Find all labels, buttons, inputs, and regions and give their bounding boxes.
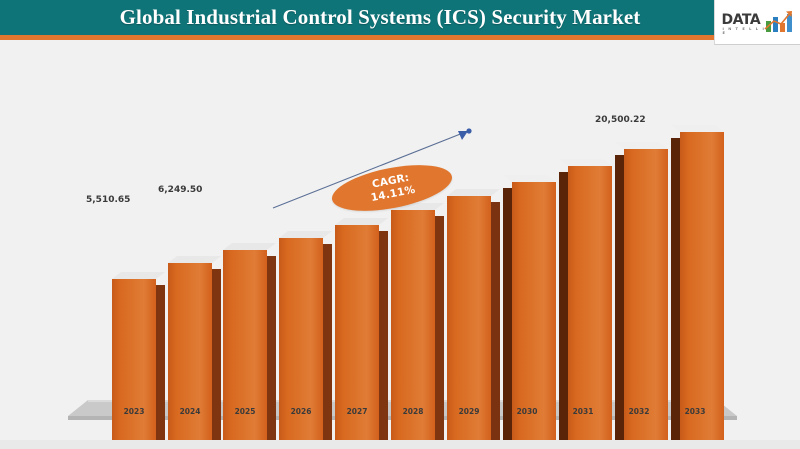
logo-wordmark: DATA (722, 12, 761, 28)
header-bar: Global Industrial Control Systems (ICS) … (0, 0, 800, 40)
page-title: Global Industrial Control Systems (ICS) … (120, 5, 641, 30)
bottom-strip (0, 440, 800, 449)
logo-inner: DATA I N T E L L I G E N C E (720, 7, 796, 37)
cagr-trend-arrow-icon (0, 45, 800, 449)
chart-plot-area: 5,510.65 6,249.50 20,500.22 2023 2024 20… (0, 45, 800, 449)
logo-bars-icon (764, 10, 794, 32)
brand-logo[interactable]: DATA I N T E L L I G E N C E (714, 0, 800, 45)
logo-arrow-icon (764, 10, 794, 32)
chart-page: Global Industrial Control Systems (ICS) … (0, 0, 800, 449)
